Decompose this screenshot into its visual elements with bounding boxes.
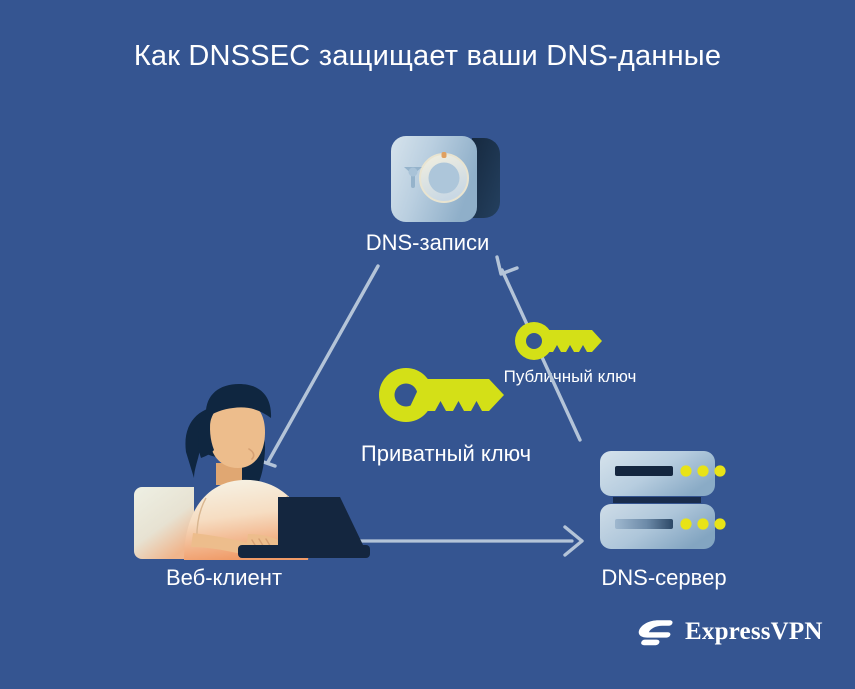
key-layer [0, 0, 855, 689]
brand-name: ExpressVPN [685, 618, 823, 646]
infographic-canvas: Как DNSSEC защищает ваши DNS-данные [0, 0, 855, 689]
private-key-icon [379, 368, 504, 422]
expressvpn-e-icon [636, 617, 674, 647]
public-key-icon [515, 322, 602, 360]
expressvpn-logo: ExpressVPN [636, 617, 823, 647]
